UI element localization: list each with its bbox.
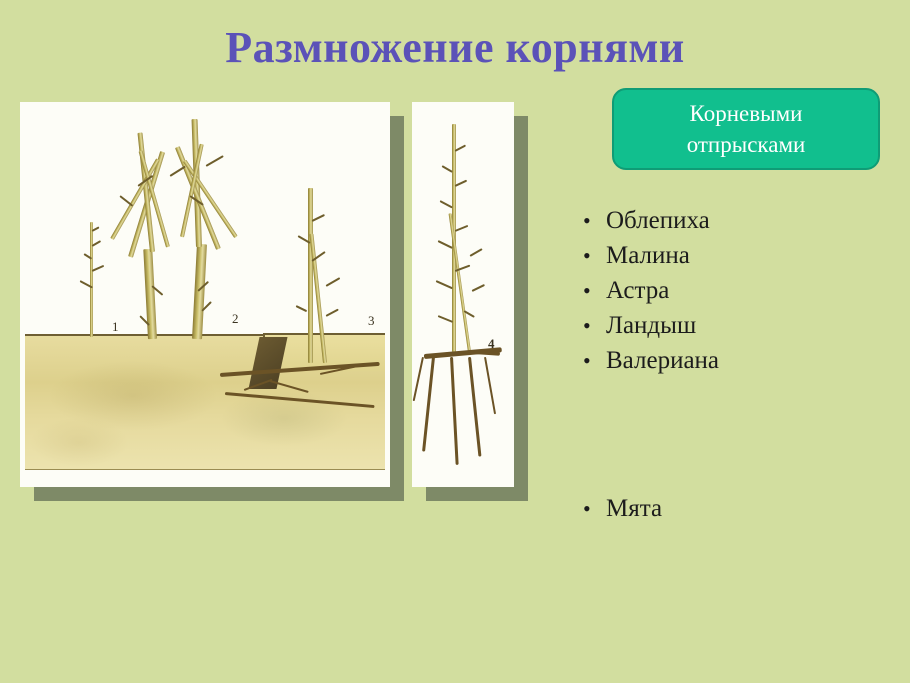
illustration-main: 1 2 3 xyxy=(20,102,390,487)
root-descending xyxy=(422,357,435,452)
bullet-marker-icon: • xyxy=(583,245,606,267)
illustration-single: 4 xyxy=(412,102,514,487)
bullet-marker-icon: • xyxy=(583,350,606,372)
diagram-label-1: 1 xyxy=(112,319,119,335)
bullet-marker-icon: • xyxy=(583,315,606,337)
root-descending xyxy=(413,357,424,401)
panel-single-canvas: 4 xyxy=(412,102,514,487)
stem-trunk-left xyxy=(143,249,157,339)
bullet-list-extra: • Мята xyxy=(583,495,883,530)
bullet-marker-icon: • xyxy=(583,280,606,302)
bullet-marker-icon: • xyxy=(583,498,606,520)
twig xyxy=(455,144,467,151)
twig xyxy=(472,284,485,292)
list-item-label: Астра xyxy=(606,277,669,305)
list-item: • Мята xyxy=(583,495,883,530)
list-item-label: Облепиха xyxy=(606,207,710,235)
root-descending xyxy=(450,357,459,465)
twig xyxy=(438,315,454,323)
diagram-label-2: 2 xyxy=(232,311,239,327)
root-descending xyxy=(484,357,496,414)
bullet-marker-icon: • xyxy=(583,210,606,232)
twig xyxy=(455,180,468,187)
twig xyxy=(312,214,325,222)
twig xyxy=(438,240,453,249)
root-rhizome-stub xyxy=(474,350,500,356)
list-item-label: Малина xyxy=(606,242,690,270)
stem-sucker-3 xyxy=(308,188,313,363)
twig xyxy=(296,305,308,312)
twig xyxy=(470,248,483,257)
twig xyxy=(326,309,339,317)
list-item: • Ландыш xyxy=(583,312,883,347)
panel-main-canvas: 1 2 3 xyxy=(20,102,390,487)
list-item-label: Ландыш xyxy=(606,312,696,340)
slide-canvas: Размножение корнями xyxy=(0,0,910,683)
twig xyxy=(455,225,469,232)
twig xyxy=(436,280,453,289)
list-item: • Астра xyxy=(583,277,883,312)
list-item: • Валериана xyxy=(583,347,883,382)
stem-trunk-right xyxy=(192,244,207,339)
diagram-label-4: 4 xyxy=(488,336,495,352)
twig xyxy=(92,265,105,272)
twig xyxy=(206,155,224,167)
bullet-list: • Облепиха • Малина • Астра • Ландыш • В… xyxy=(583,207,883,382)
callout-text: Корневыми отпрысками xyxy=(687,98,806,160)
twig xyxy=(440,200,453,208)
stem-sucker-1 xyxy=(90,222,93,337)
callout-box: Корневыми отпрысками xyxy=(612,88,880,170)
list-item: • Малина xyxy=(583,242,883,277)
twig xyxy=(169,166,185,177)
list-item: • Облепиха xyxy=(583,207,883,242)
root-descending xyxy=(468,357,481,457)
page-title: Размножение корнями xyxy=(0,22,910,74)
list-item-label: Валериана xyxy=(606,347,719,375)
list-item-label: Мята xyxy=(606,495,662,523)
twig xyxy=(326,277,341,287)
diagram-label-3: 3 xyxy=(368,313,375,329)
